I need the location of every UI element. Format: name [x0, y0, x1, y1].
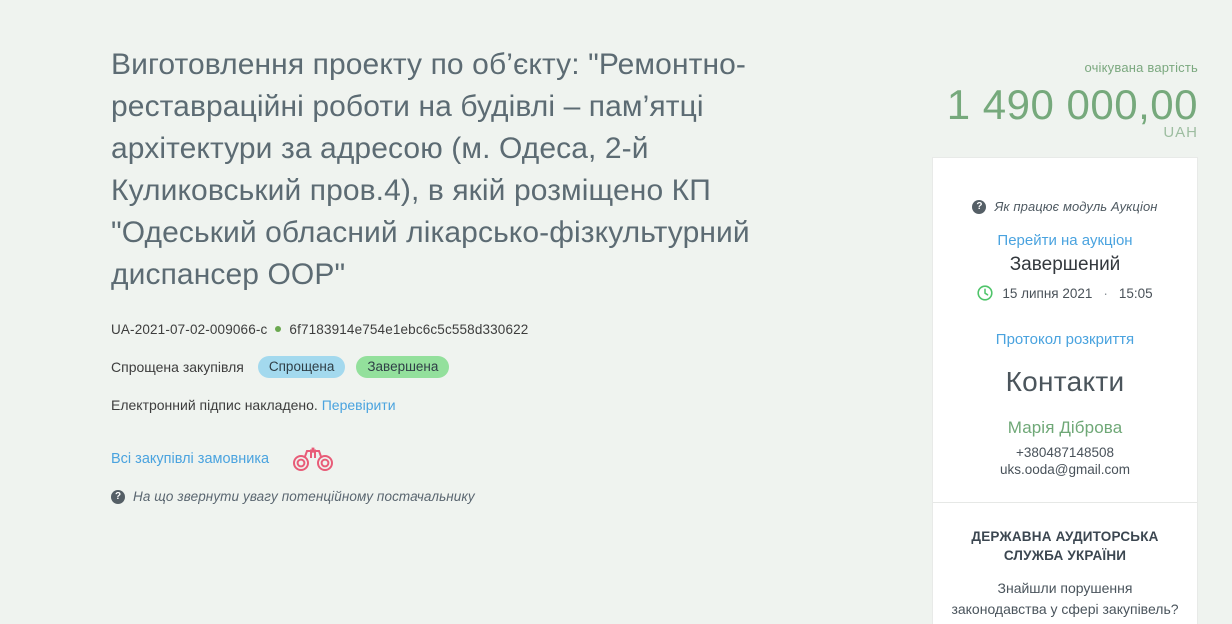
tender-id: UA-2021-07-02-009066-c	[111, 322, 267, 337]
expected-value-amount: 1 490 000,00	[908, 80, 1198, 130]
auction-info-card: ? Як працює модуль Аукціон Перейти на ау…	[932, 157, 1198, 624]
binoculars-icon[interactable]	[291, 446, 335, 472]
disclosure-protocol-link[interactable]: Протокол розкриття	[947, 331, 1183, 348]
all-purchases-row: Всі закупівлі замовника	[111, 446, 811, 472]
status-badge-procedure: Спрощена	[258, 356, 346, 378]
audit-service-section: ДЕРЖАВНА АУДИТОРСЬКА СЛУЖБА УКРАЇНИ Знай…	[933, 527, 1197, 620]
all-purchases-link[interactable]: Всі закупівлі замовника	[111, 451, 269, 467]
procurement-type-label: Спрощена закупівля	[111, 359, 244, 375]
audit-title-line-2: СЛУЖБА УКРАЇНИ	[947, 546, 1183, 565]
expected-value-block: очікувана вартість 1 490 000,00 UAH	[908, 60, 1198, 141]
audit-question-line-1: Знайшли порушення	[947, 578, 1183, 599]
status-badge-row: Спрощена закупівля Спрощена Завершена	[111, 356, 811, 378]
audit-question-line-2: законодавства у сфері закупівель?	[947, 599, 1183, 620]
audit-service-title: ДЕРЖАВНА АУДИТОРСЬКА СЛУЖБА УКРАЇНИ	[947, 527, 1183, 565]
contact-person-name: Марія Діброва	[947, 418, 1183, 438]
green-dot-separator-icon	[275, 326, 281, 332]
how-auction-works-text: Як працює модуль Аукціон	[994, 199, 1157, 214]
auction-section: ? Як працює модуль Аукціон Перейти на ау…	[933, 158, 1197, 477]
contact-email[interactable]: uks.ooda@gmail.com	[947, 462, 1183, 477]
clock-icon	[977, 285, 993, 301]
contact-phone: +380487148508	[947, 445, 1183, 460]
tender-page: Виготовлення проекту по об’єкту: "Ремонт…	[0, 0, 1232, 624]
signature-label: Електронний підпис накладено.	[111, 397, 318, 413]
card-divider	[933, 502, 1197, 503]
auction-datetime-row: 15 липня 2021 · 15:05	[947, 285, 1183, 301]
attention-note-text: На що звернути увагу потенційному постач…	[133, 489, 475, 504]
audit-question: Знайшли порушення законодавства у сфері …	[947, 578, 1183, 620]
help-icon: ?	[972, 200, 986, 214]
verify-signature-link[interactable]: Перевірити	[322, 397, 396, 413]
auction-status: Завершений	[947, 254, 1183, 276]
datetime-separator: ·	[1103, 286, 1108, 301]
go-to-auction-link[interactable]: Перейти на аукціон	[947, 232, 1183, 249]
auction-date: 15 липня 2021	[1002, 286, 1092, 301]
tender-hash: 6f7183914e754e1ebc6c5c558d330622	[289, 322, 528, 337]
expected-value-label: очікувана вартість	[908, 60, 1198, 76]
signature-row: Електронний підпис накладено. Перевірити	[111, 397, 811, 413]
attention-note-row[interactable]: ? На що звернути увагу потенційному пост…	[111, 489, 811, 504]
help-icon: ?	[111, 490, 125, 504]
audit-title-line-1: ДЕРЖАВНА АУДИТОРСЬКА	[947, 527, 1183, 546]
contacts-heading: Контакти	[947, 366, 1183, 398]
tender-identifiers: UA-2021-07-02-009066-c 6f7183914e754e1eb…	[111, 322, 811, 337]
how-auction-works-row[interactable]: ? Як працює модуль Аукціон	[947, 158, 1183, 214]
tender-main-column: Виготовлення проекту по об’єкту: "Ремонт…	[111, 44, 811, 504]
page-title: Виготовлення проекту по об’єкту: "Ремонт…	[111, 44, 761, 296]
status-badge-state: Завершена	[356, 356, 449, 378]
tender-side-column: очікувана вартість 1 490 000,00 UAH ? Як…	[900, 0, 1232, 624]
auction-time: 15:05	[1119, 286, 1153, 301]
